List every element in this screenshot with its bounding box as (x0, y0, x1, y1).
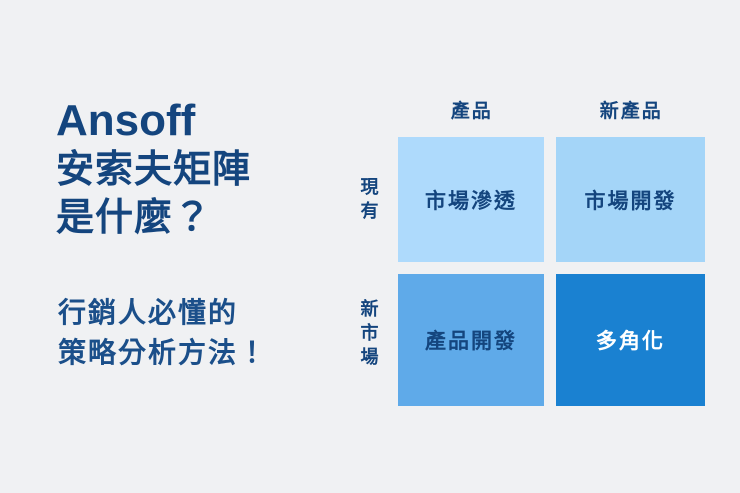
matrix-row-headers: 現 有 新 市 場 (348, 137, 392, 406)
row-header-existing-market: 現 有 (348, 175, 392, 223)
quadrant-market-penetration[interactable]: 市場滲透 (398, 137, 544, 262)
row-header-char: 有 (348, 199, 392, 223)
row-header-char: 新 (348, 297, 392, 321)
column-header-new-product: 新產品 (558, 96, 706, 128)
quadrant-product-development[interactable]: 產品開發 (398, 274, 544, 406)
row-header-char: 市 (348, 321, 392, 345)
headline-line-ansoff: Ansoff (56, 96, 356, 146)
headline-block: Ansoff 安索夫矩陣 是什麼？ (56, 96, 356, 242)
subtitle-line-1: 行銷人必懂的 (58, 293, 358, 333)
ansoff-matrix: 市場滲透 市場開發 產品開發 多角化 (398, 137, 705, 406)
infographic-canvas: Ansoff 安索夫矩陣 是什麼？ 行銷人必懂的 策略分析方法！ 產品 新產品 … (0, 0, 740, 493)
column-header-product: 產品 (398, 96, 546, 128)
subtitle-line-2: 策略分析方法！ (58, 333, 358, 373)
quadrant-market-development[interactable]: 市場開發 (556, 137, 705, 262)
row-header-char: 現 (348, 175, 392, 199)
row-header-new-market: 新 市 場 (348, 297, 392, 369)
matrix-column-headers: 產品 新產品 (398, 96, 705, 128)
headline-line-question: 是什麼？ (56, 194, 356, 242)
row-header-char: 場 (348, 345, 392, 369)
subtitle-block: 行銷人必懂的 策略分析方法！ (58, 293, 358, 373)
headline-line-matrix-name: 安索夫矩陣 (56, 146, 356, 194)
quadrant-diversification[interactable]: 多角化 (556, 274, 705, 406)
matrix-grid: 市場滲透 市場開發 產品開發 多角化 (398, 137, 705, 406)
